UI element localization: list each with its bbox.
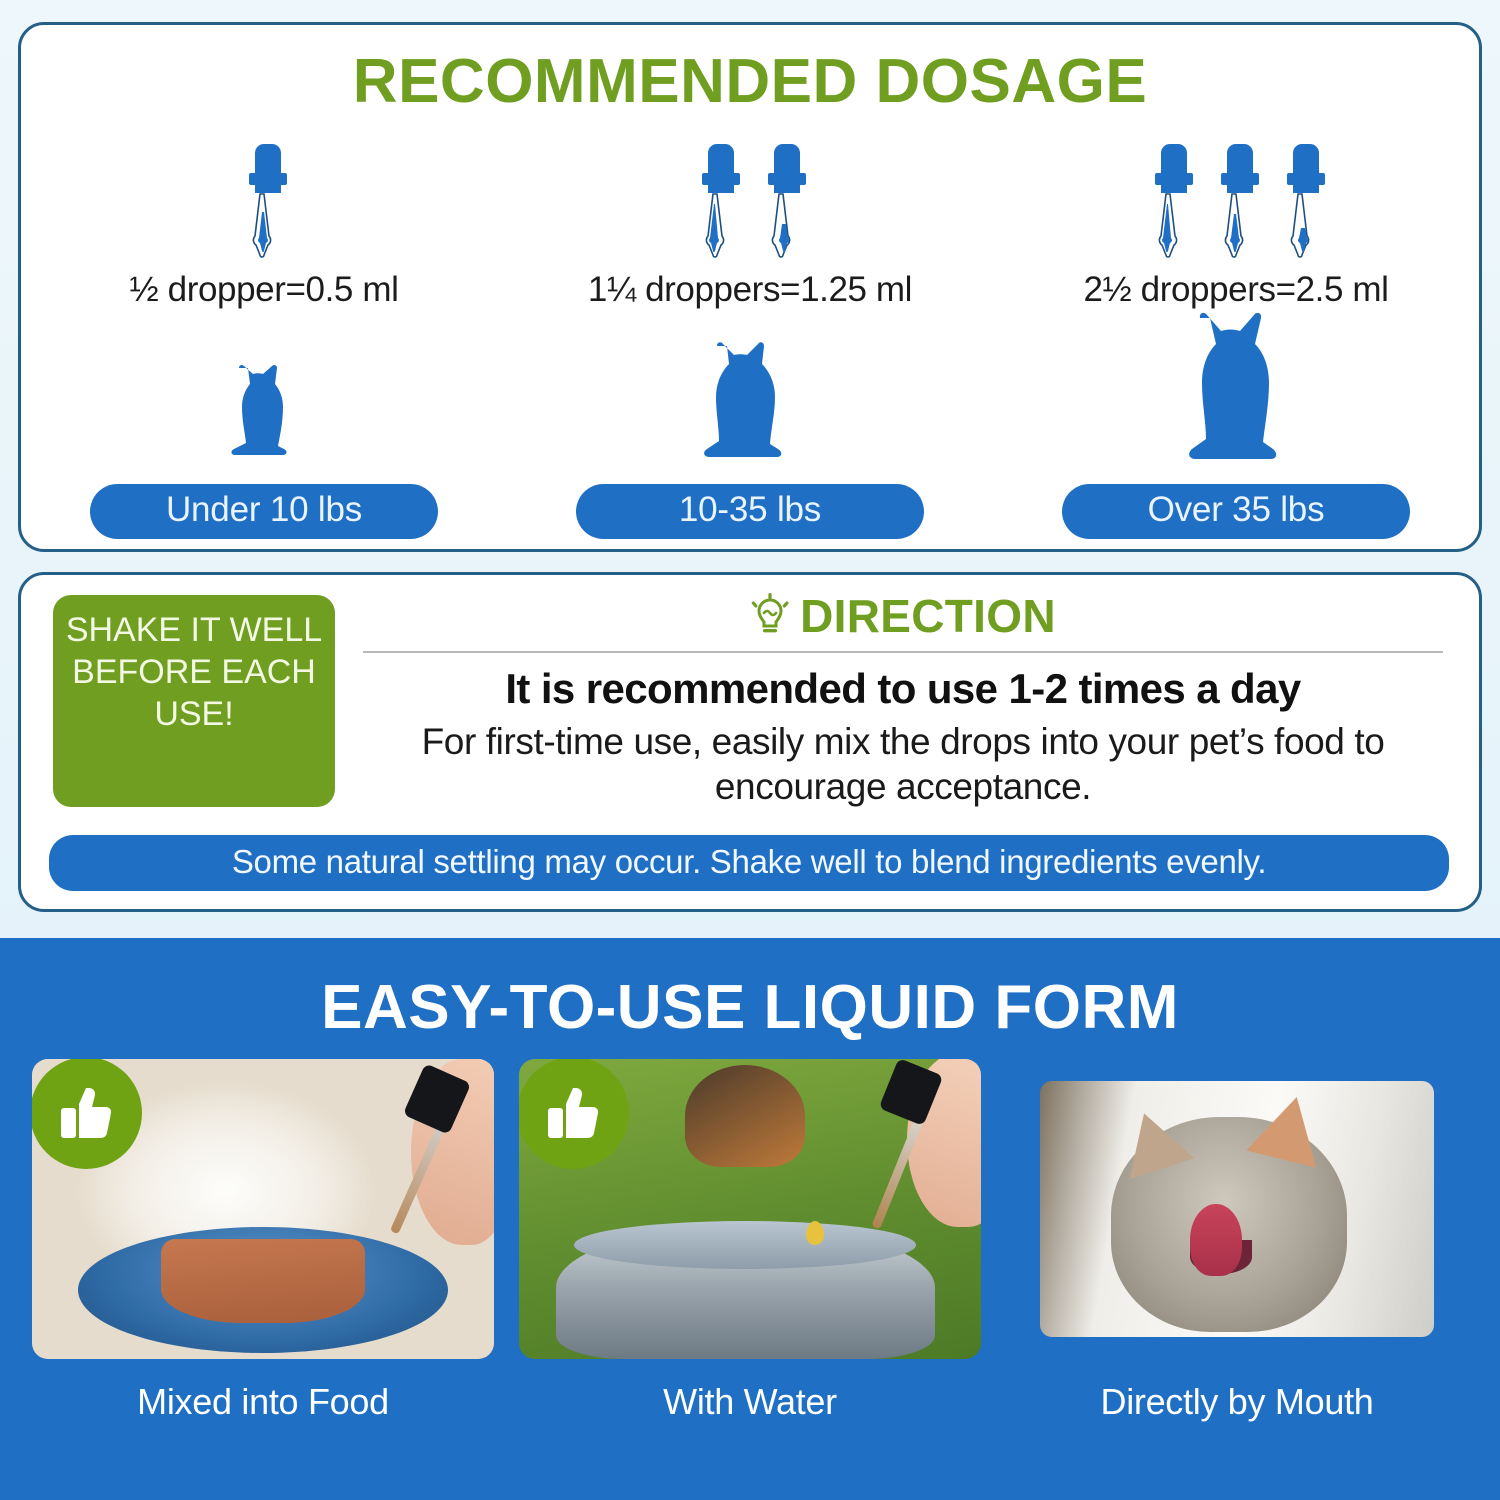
liquid-form-title: EASY-TO-USE LIQUID FORM (0, 938, 1500, 1043)
dosage-columns: ½ dropper=0.5 ml Under 10 lbs (21, 130, 1479, 539)
dosage-column-medium: 1¼ droppers=1.25 ml 10-35 lbs (507, 130, 993, 539)
weight-pill-small[interactable]: Under 10 lbs (90, 484, 438, 539)
dose-text-large: 2½ droppers=2.5 ml (1083, 270, 1388, 310)
dosage-column-small: ½ dropper=0.5 ml Under 10 lbs (21, 130, 507, 539)
photo-frame-water (519, 1059, 981, 1359)
cat-silhouette-icon (1170, 312, 1302, 472)
photo-frame-mouth (1006, 1059, 1468, 1359)
dropper-icon (1144, 142, 1196, 260)
thumbs-up-glyph (55, 1082, 117, 1144)
photo-caption-mouth: Directly by Mouth (1006, 1381, 1468, 1423)
cat-silhouette-icon (691, 332, 809, 472)
lightbulb-icon (750, 593, 790, 639)
direction-heading: DIRECTION (357, 589, 1449, 643)
dosage-column-large: 2½ droppers=2.5 ml Over 35 lbs (993, 130, 1479, 539)
photo-frame-food (32, 1059, 494, 1359)
photo-panel-mouth: Directly by Mouth (1006, 1059, 1468, 1423)
direction-strong-line: It is recommended to use 1-2 times a day (357, 665, 1449, 713)
direction-heading-label: DIRECTION (800, 589, 1056, 643)
shake-well-box: SHAKE IT WELL BEFORE EACH USE! (53, 595, 335, 807)
photo-caption-water: With Water (519, 1381, 981, 1423)
thumbs-up-icon (32, 1059, 142, 1169)
dropper-icon (238, 142, 290, 260)
photo-row: Mixed into Food (0, 1043, 1500, 1423)
thumbs-up-glyph (542, 1082, 604, 1144)
weight-pill-large[interactable]: Over 35 lbs (1062, 484, 1410, 539)
photo-image-mouth (1040, 1081, 1434, 1337)
photo-caption-food: Mixed into Food (32, 1381, 494, 1423)
dropper-icon (1276, 142, 1328, 260)
direction-content: DIRECTION It is recommended to use 1-2 t… (335, 591, 1463, 809)
dosage-title: RECOMMENDED DOSAGE (21, 49, 1479, 116)
dropper-group-3 (1144, 130, 1328, 260)
cat-licking-image (1040, 1081, 1434, 1337)
cat-silhouette-small-wrap (218, 322, 310, 472)
easy-to-use-section: EASY-TO-USE LIQUID FORM (0, 938, 1500, 1500)
recommended-dosage-card: RECOMMENDED DOSAGE ½ dropper=0.5 ml (18, 22, 1482, 552)
weight-pill-medium[interactable]: 10-35 lbs (576, 484, 924, 539)
direction-row: SHAKE IT WELL BEFORE EACH USE! DIRECTION… (37, 591, 1463, 827)
thumbs-up-icon (519, 1059, 629, 1169)
direction-divider (363, 651, 1443, 653)
dropper-group-2 (691, 130, 809, 260)
dropper-icon (691, 142, 743, 260)
infographic-page: RECOMMENDED DOSAGE ½ dropper=0.5 ml (0, 0, 1500, 1500)
photo-panel-water: With Water (519, 1059, 981, 1423)
cat-silhouette-icon (218, 352, 310, 472)
dropper-icon (757, 142, 809, 260)
direction-card: SHAKE IT WELL BEFORE EACH USE! DIRECTION… (18, 572, 1482, 912)
direction-sub-line: For first-time use, easily mix the drops… (357, 719, 1449, 809)
dropper-icon (1210, 142, 1262, 260)
dropper-group-1 (238, 130, 290, 260)
cat-silhouette-medium-wrap (691, 322, 809, 472)
settling-notice-bar: Some natural settling may occur. Shake w… (49, 835, 1449, 891)
dose-text-medium: 1¼ droppers=1.25 ml (588, 270, 912, 310)
cat-silhouette-large-wrap (1170, 322, 1302, 472)
photo-panel-food: Mixed into Food (32, 1059, 494, 1423)
dose-text-small: ½ dropper=0.5 ml (130, 270, 399, 310)
